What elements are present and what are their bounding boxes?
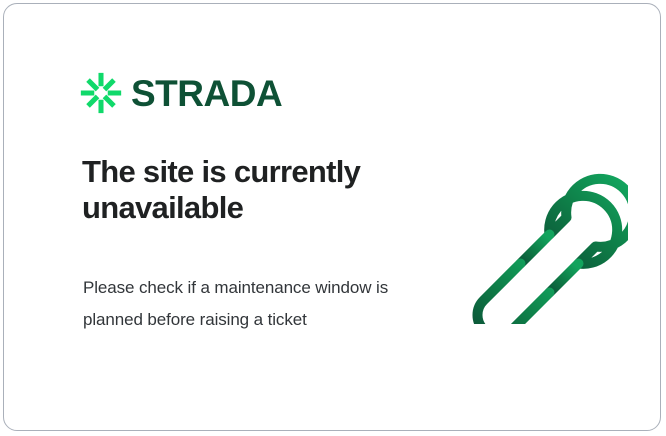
brand-lockup: STRADA [80,72,282,114]
status-card: STRADA The site is currently unavailable… [3,3,661,431]
strada-starburst-icon [80,72,122,114]
wrench-icon [456,156,628,324]
content-column: STRADA The site is currently unavailable… [80,4,420,430]
page-title: The site is currently unavailable [82,154,422,226]
brand-wordmark: STRADA [131,75,282,112]
status-description: Please check if a maintenance window is … [83,272,403,336]
